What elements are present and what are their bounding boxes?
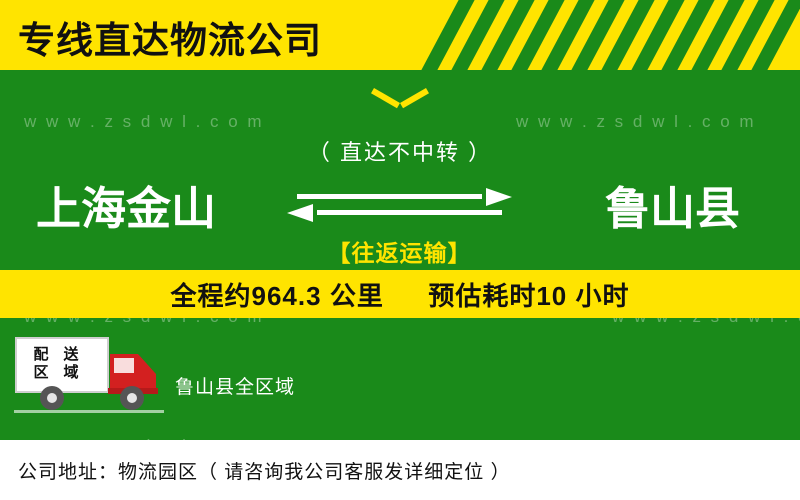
watermark-text: w w w . z s d w l . c o m — [516, 112, 756, 132]
chevron-down-icon — [374, 88, 426, 114]
delivery-area-text: 鲁山县全区域 — [175, 372, 295, 399]
duration-value: 10 — [536, 281, 567, 311]
distance-unit: 公里 — [330, 281, 384, 311]
delivery-truck-icon: 配 送 区 域 — [14, 332, 164, 418]
header-stripes-decoration — [430, 0, 800, 70]
address-label: 公司地址： — [18, 457, 118, 484]
duration-unit: 小时 — [575, 281, 629, 311]
main-body: w w w . z s d w l . c o m w w w . z s d … — [0, 70, 800, 440]
logistics-banner: 专线直达物流公司 w w w . z s d w l . c o m w w w… — [0, 0, 800, 500]
duration-prefix: 预估耗时 — [428, 281, 536, 311]
bidirectional-arrow-icon — [287, 186, 512, 224]
route-block: （ 直达不中转 ） 上海金山 鲁山县 【往返运输】 — [0, 130, 800, 260]
watermark-text: w w w . z s d w l . c o m — [24, 112, 264, 132]
truck-badge-label: 配 送 区 域 — [28, 346, 84, 382]
header-bar: 专线直达物流公司 — [0, 0, 800, 70]
address-value: 物流园区（ 请咨询我公司客服发详细定位 ） — [118, 457, 511, 484]
route-note-bottom: 【往返运输】 — [287, 234, 512, 268]
distance-text: 全程约964.3 公里 预估耗时10 小时 — [171, 276, 630, 313]
route-note-top: （ 直达不中转 ） — [0, 135, 800, 167]
distance-bar: 全程约964.3 公里 预估耗时10 小时 — [0, 270, 800, 318]
destination-city: 鲁山县 — [605, 172, 740, 237]
distance-prefix: 全程约 — [171, 281, 252, 311]
footer-bar: 公司地址： 物流园区（ 请咨询我公司客服发详细定位 ） — [0, 440, 800, 500]
delivery-area-row: 配 送 区 域 鲁山县全区域 — [0, 332, 800, 422]
distance-value: 964.3 — [252, 281, 322, 311]
page-title: 专线直达物流公司 — [18, 10, 322, 64]
origin-city: 上海金山 — [36, 172, 216, 237]
